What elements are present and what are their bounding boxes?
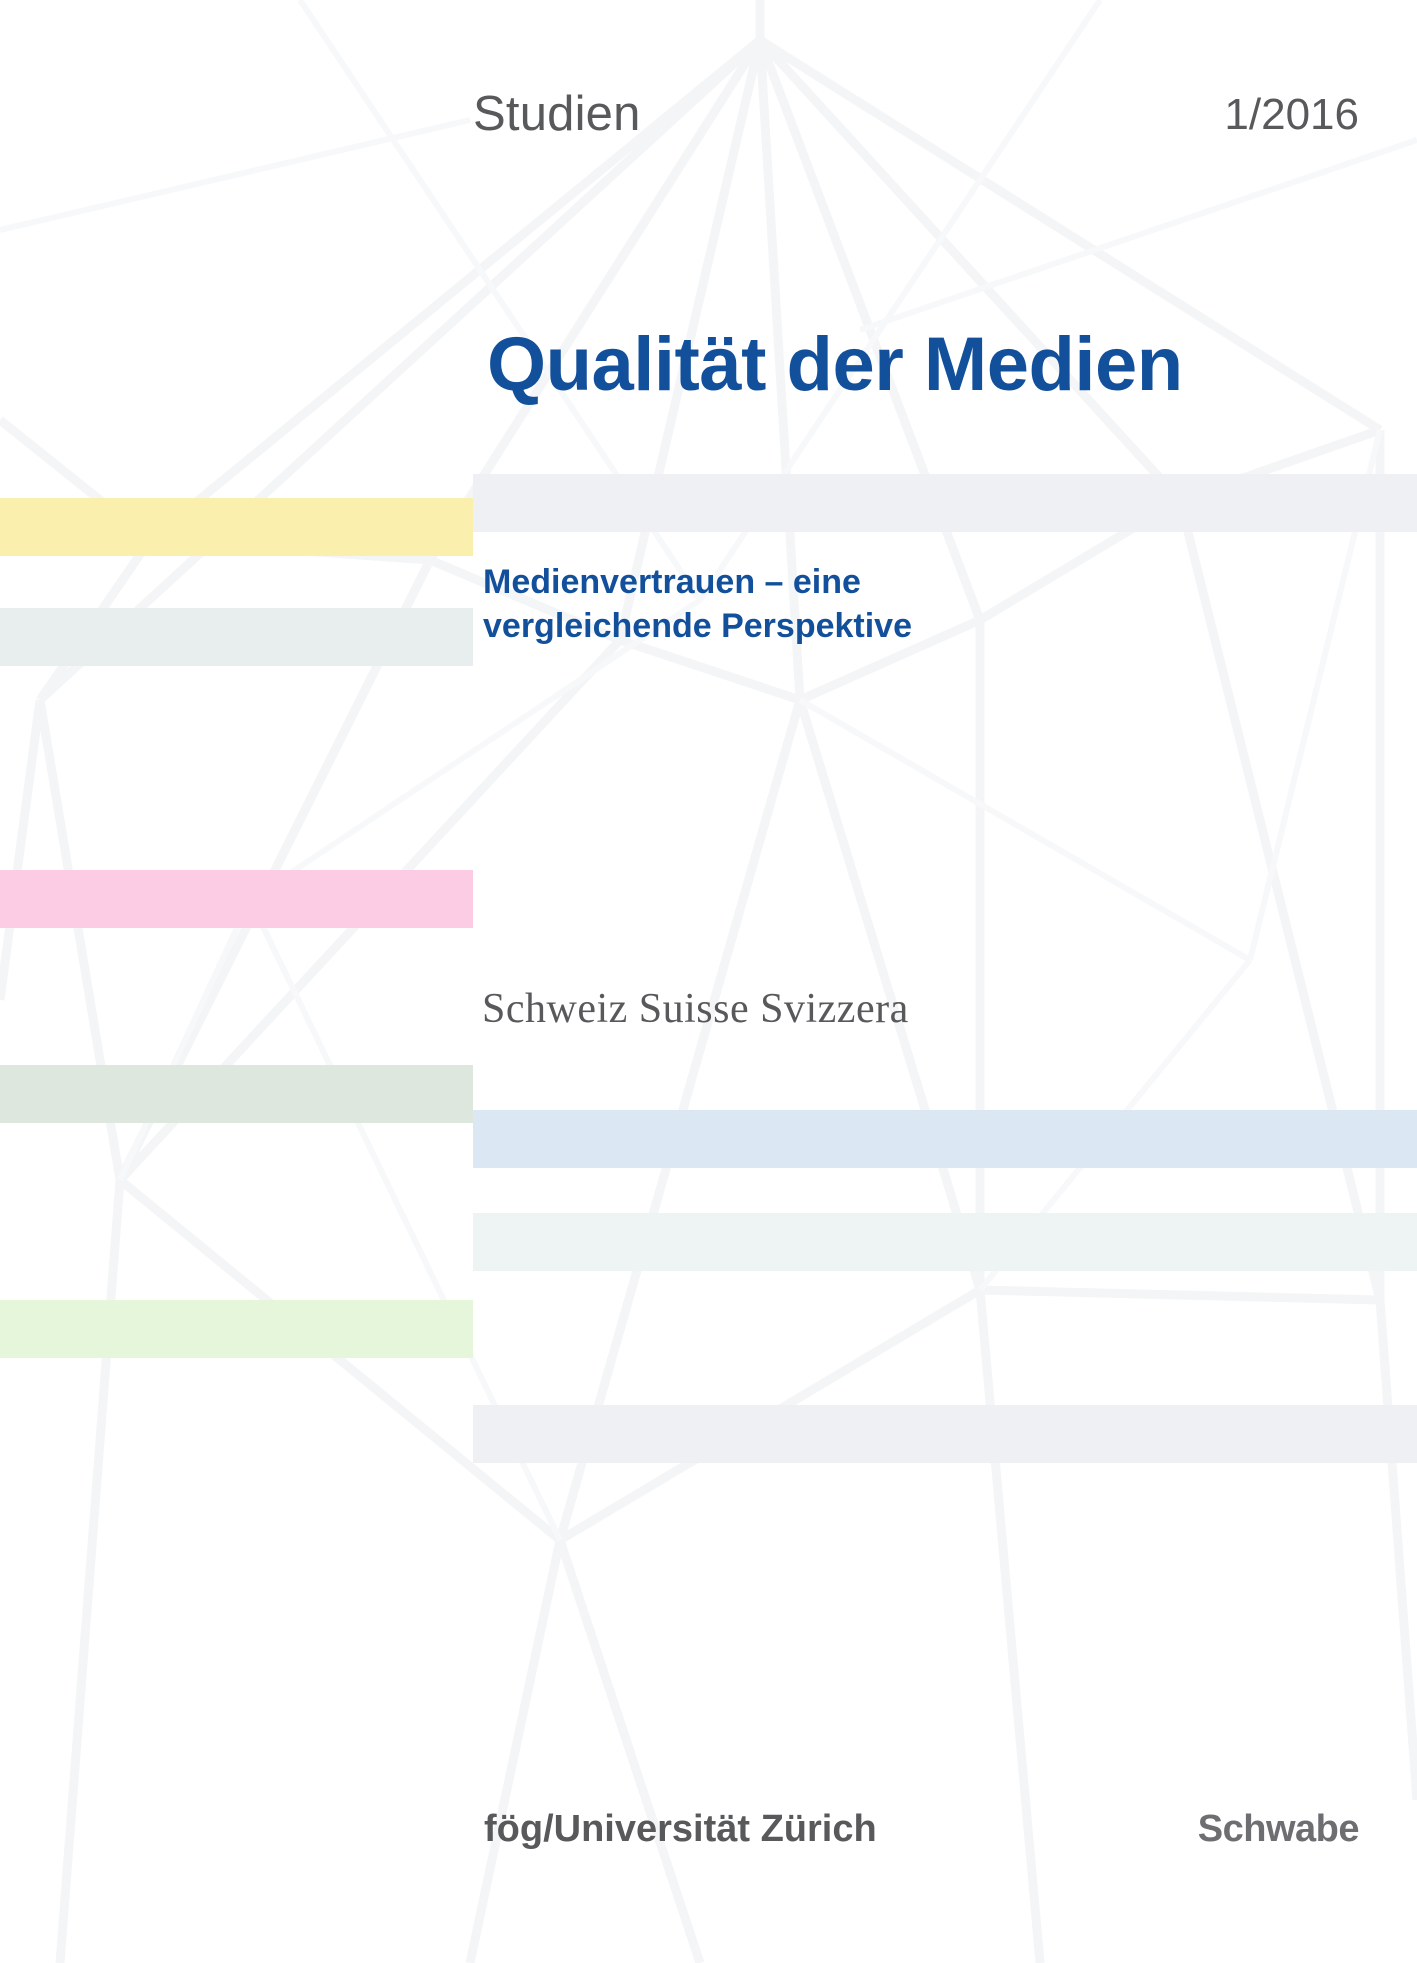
book-cover: Studien 1/2016 Qualität der Medien Medie… [0, 0, 1417, 1963]
publisher-logo: Schwabe [1198, 1808, 1359, 1851]
background-mesh-pattern [0, 0, 1417, 1963]
bar-lightgreen-left [0, 1300, 473, 1358]
cover-subtitle: Medienvertrauen – eine vergleichende Per… [483, 560, 912, 648]
bar-teal-left [0, 608, 473, 666]
institute-credit: fög/Universität Zürich [484, 1808, 877, 1851]
bar-grey-top-right [473, 474, 1417, 532]
series-kicker: Studien [473, 86, 641, 142]
bar-sage-left [0, 1065, 473, 1123]
cover-title: Qualität der Medien [487, 321, 1183, 408]
bar-mint-right [473, 1213, 1417, 1271]
language-line: Schweiz Suisse Svizzera [482, 985, 909, 1033]
issue-number: 1/2016 [1224, 90, 1359, 140]
bar-grey-bottom-right [473, 1405, 1417, 1463]
bar-yellow-left [0, 498, 473, 556]
bar-pink-left [0, 870, 473, 928]
bar-blue-right [473, 1110, 1417, 1168]
